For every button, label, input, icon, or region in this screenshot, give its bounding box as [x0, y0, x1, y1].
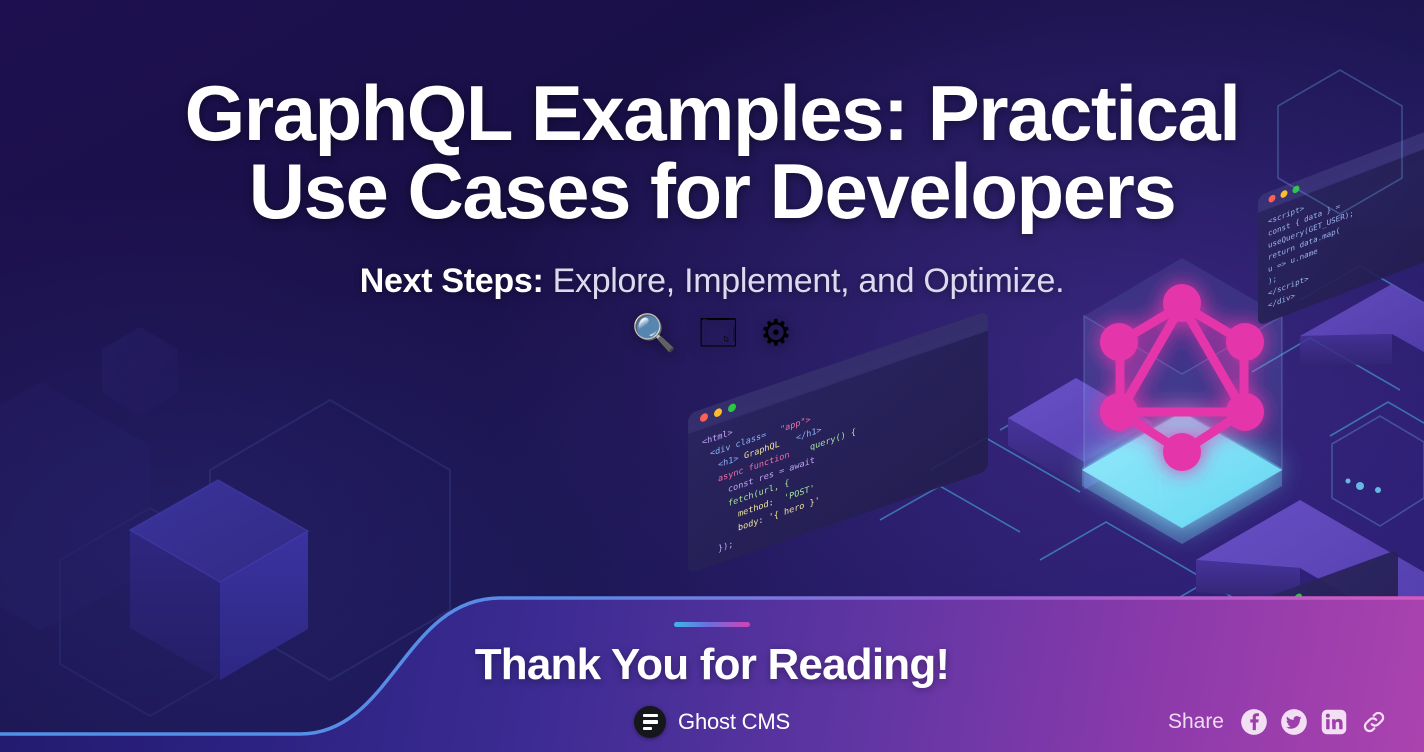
hero-subtitle-lead: Next Steps: — [360, 262, 544, 300]
hero-subtitle: Next Steps: Explore, Implement, and Opti… — [0, 262, 1424, 301]
presentation-slide: <html> <div class= "app"> <h1> GraphQL <… — [0, 0, 1424, 752]
magnifying-glass-icon: 🔍 — [632, 315, 677, 351]
copy-link-icon[interactable] — [1360, 708, 1388, 736]
ghost-logo-icon — [634, 706, 666, 738]
twitter-icon[interactable] — [1280, 708, 1308, 736]
footer-banner: Thank You for Reading! Ghost CMS Share — [0, 562, 1424, 752]
code-window-icon: 🗔 — [699, 315, 738, 351]
hero-icon-row: 🔍 🗔 ⚙ — [0, 315, 1424, 351]
circuit-nodes — [1346, 479, 1382, 494]
share-row: Share — [1168, 708, 1388, 736]
page-title: GraphQL Examples: Practical Use Cases fo… — [0, 74, 1424, 230]
brand-name: Ghost CMS — [678, 709, 790, 735]
hero-subtitle-rest: Explore, Implement, and Optimize. — [543, 262, 1064, 300]
hero-section: GraphQL Examples: Practical Use Cases fo… — [0, 74, 1424, 351]
gear-icon: ⚙ — [760, 315, 792, 351]
thank-you-heading: Thank You for Reading! — [0, 640, 1424, 690]
share-label: Share — [1168, 710, 1224, 734]
facebook-icon[interactable] — [1240, 708, 1268, 736]
linkedin-icon[interactable] — [1320, 708, 1348, 736]
banner-content: Thank You for Reading! Ghost CMS Share — [0, 562, 1424, 752]
accent-divider-bar — [674, 622, 750, 627]
